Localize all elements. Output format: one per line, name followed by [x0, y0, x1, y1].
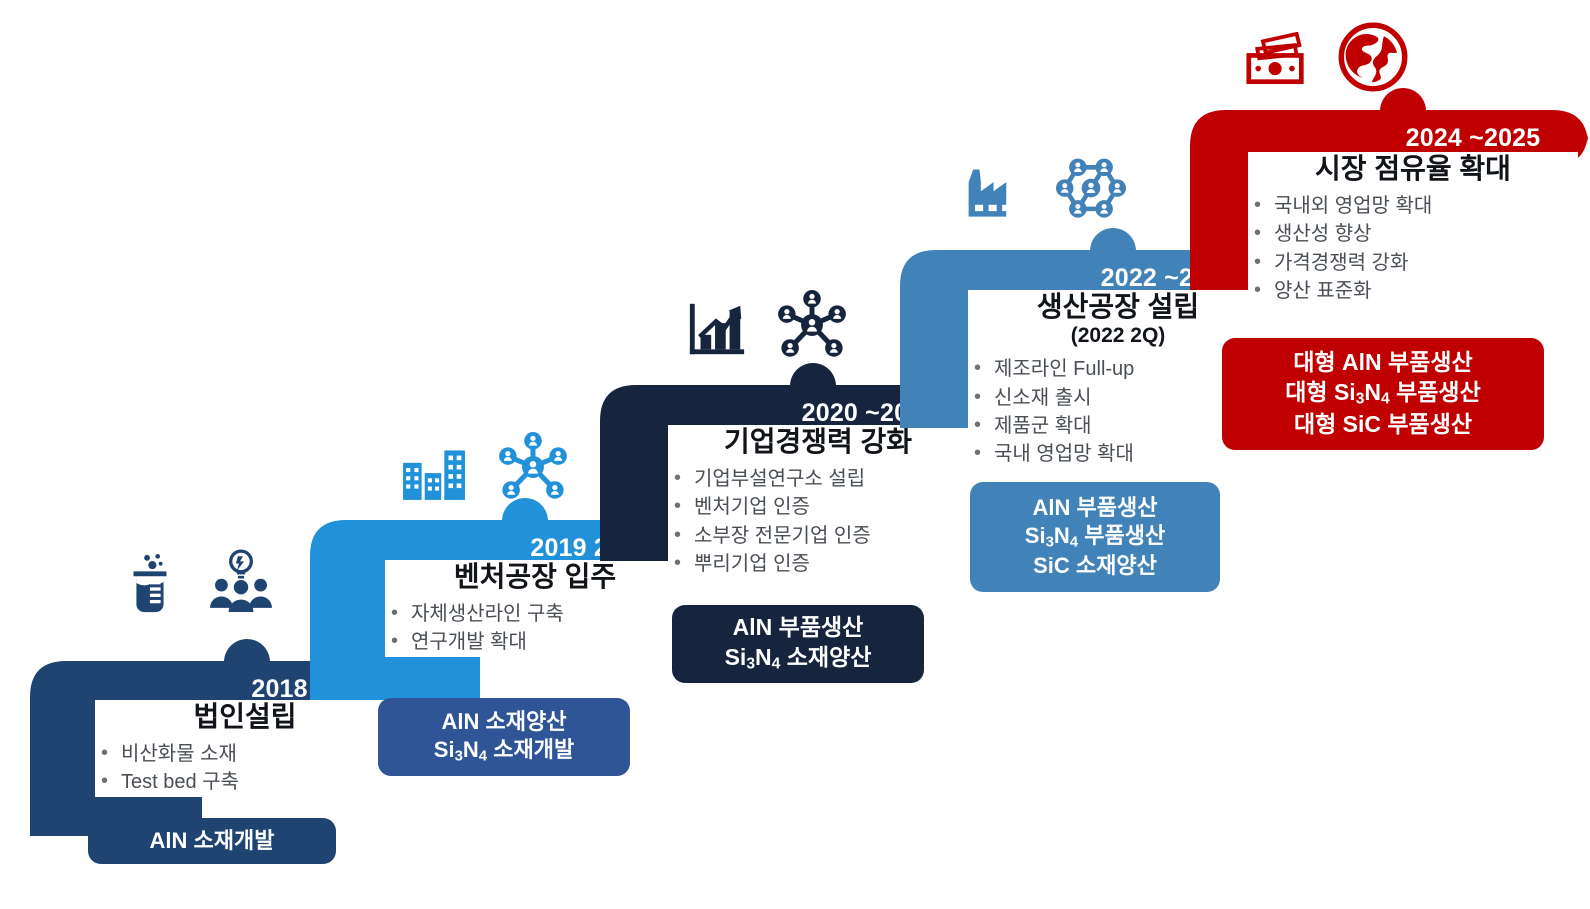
step-2024-panel: 시장 점유율 확대국내외 영업망 확대생산성 향상가격경쟁력 강화양산 표준화	[1248, 152, 1578, 306]
step-2018-knob	[224, 639, 270, 662]
step-2019-icons	[398, 432, 570, 502]
step-2022-knob	[1090, 228, 1136, 251]
chip-line: Si3N4 소재양산	[725, 643, 872, 675]
step-2020-bullet-list: 기업부설연구소 설립벤처기업 인증소부장 전문기업 인증뿌리기업 인증	[668, 465, 968, 579]
chip-line: 대형 Si3N4 부품생산	[1285, 378, 1481, 410]
step-2022-outcome-chip[interactable]: AlN 부품생산Si3N4 부품생산SiC 소재양산	[970, 482, 1220, 592]
step-2018-panel: 법인설립비산화물 소재Test bed 구축	[95, 700, 395, 797]
list-item: 양산 표준화	[1248, 277, 1578, 305]
step-2020-icons	[685, 290, 849, 360]
network-person-icon	[775, 290, 849, 360]
team-idea-icon	[206, 548, 276, 614]
growth-chart-icon	[685, 298, 749, 360]
step-2024-year-label: 2024 ~2025	[1338, 124, 1590, 153]
chip-line: AlN 부품생산	[733, 613, 864, 643]
chip-line: Si3N4 부품생산	[1025, 522, 1165, 552]
list-item: 국내 영업망 확대	[968, 440, 1268, 468]
step-2020-outcome-chip[interactable]: AlN 부품생산Si3N4 소재양산	[672, 605, 924, 683]
list-item: 생산성 향상	[1248, 220, 1578, 248]
list-item: 국내외 영업망 확대	[1248, 192, 1578, 220]
chip-line: AlN 소재개발	[150, 827, 275, 856]
step-2022-icons	[962, 152, 1130, 222]
step-2024-title: 시장 점유율 확대	[1248, 152, 1578, 185]
chip-line: AlN 부품생산	[1033, 494, 1158, 523]
step-2019-title: 벤처공장 입주	[385, 560, 685, 593]
network-person-icon	[496, 432, 570, 502]
chip-line: AlN 소재양산	[442, 708, 567, 737]
chip-line: 대형 SiC 부품생산	[1294, 410, 1472, 440]
step-2020-panel: 기업경쟁력 강화기업부설연구소 설립벤처기업 인증소부장 전문기업 인증뿌리기업…	[668, 425, 968, 579]
list-item: 뿌리기업 인증	[668, 550, 968, 578]
chip-line: SiC 소재양산	[1033, 552, 1157, 581]
list-item: Test bed 구축	[95, 768, 395, 796]
list-item: 기업부설연구소 설립	[668, 465, 968, 493]
beaker-icon	[118, 552, 180, 614]
step-2024-bullet-list: 국내외 영업망 확대생산성 향상가격경쟁력 강화양산 표준화	[1248, 192, 1578, 306]
list-item: 비산화물 소재	[95, 740, 395, 768]
list-item: 가격경쟁력 강화	[1248, 249, 1578, 277]
list-item: 벤처기업 인증	[668, 493, 968, 521]
step-2019-bullet-list: 자체생산라인 구축연구개발 확대	[385, 600, 685, 657]
chip-line: 대형 AlN 부품생산	[1293, 348, 1472, 378]
step-2022-title: 생산공장 설립	[968, 290, 1268, 323]
step-2024-icons	[1240, 22, 1408, 92]
step-2018-bullet-list: 비산화물 소재Test bed 구축	[95, 740, 395, 797]
step-2019-panel: 벤처공장 입주자체생산라인 구축연구개발 확대	[385, 560, 685, 657]
factory-icon	[962, 164, 1026, 222]
step-2019-outcome-chip[interactable]: AlN 소재양산Si3N4 소재개발	[378, 698, 630, 776]
step-2018-icons	[118, 548, 276, 614]
step-2024-outcome-chip[interactable]: 대형 AlN 부품생산대형 Si3N4 부품생산대형 SiC 부품생산	[1222, 338, 1544, 450]
step-2020-title: 기업경쟁력 강화	[668, 425, 968, 458]
cash-icon	[1240, 32, 1312, 92]
network-hex-icon	[1052, 152, 1130, 222]
list-item: 자체생산라인 구축	[385, 600, 685, 628]
chip-line: Si3N4 소재개발	[434, 736, 574, 766]
globe-icon	[1338, 22, 1408, 92]
buildings-icon	[398, 436, 470, 502]
roadmap-diagram: 2018 3Q법인설립비산화물 소재Test bed 구축AlN 소재개발	[0, 0, 1590, 909]
step-2018-title: 법인설립	[95, 700, 395, 733]
step-2020-knob	[790, 363, 836, 386]
step-2018-outcome-chip[interactable]: AlN 소재개발	[88, 818, 336, 864]
list-item: 소부장 전문기업 인증	[668, 522, 968, 550]
list-item: 연구개발 확대	[385, 628, 685, 656]
